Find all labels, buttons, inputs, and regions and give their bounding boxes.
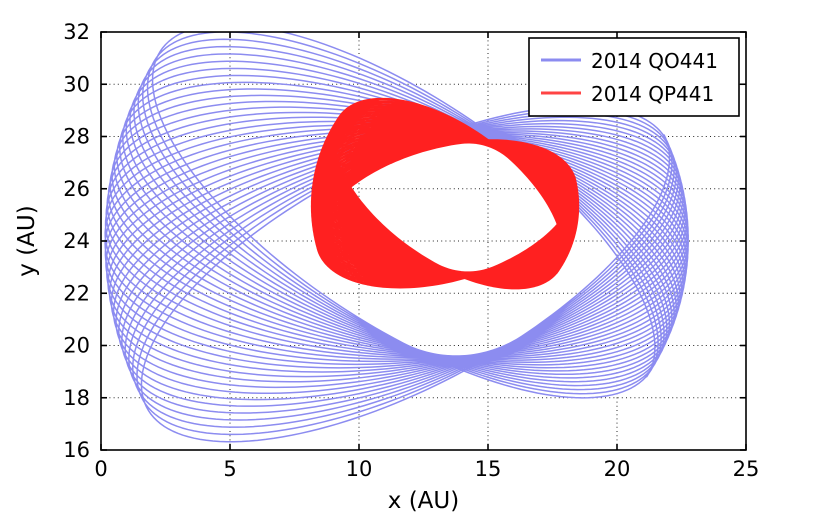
y-tick-label: 26 — [63, 177, 90, 201]
legend-label-2: 2014 QP441 — [591, 82, 714, 106]
y-tick-label: 16 — [63, 438, 90, 462]
orbit-plot: 0510152025161820222426283032 x (AU)y (AU… — [0, 0, 830, 515]
y-tick-label: 30 — [63, 72, 90, 96]
orbit-trace-2014-qp441 — [312, 99, 578, 288]
legend-label-1: 2014 QO441 — [591, 49, 718, 73]
y-tick-label: 20 — [63, 334, 90, 358]
figure-canvas: 0510152025161820222426283032 x (AU)y (AU… — [0, 0, 830, 515]
x-tick-label: 15 — [475, 457, 502, 481]
x-tick-label: 10 — [346, 457, 373, 481]
x-tick-label: 5 — [223, 457, 236, 481]
y-axis-label: y (AU) — [14, 205, 40, 276]
y-tick-label: 32 — [63, 20, 90, 44]
y-tick-label: 24 — [63, 229, 90, 253]
x-tick-label: 0 — [94, 457, 107, 481]
plot-legend[interactable]: 2014 QO4412014 QP441 — [529, 38, 739, 116]
y-tick-label: 28 — [63, 125, 90, 149]
x-tick-label: 20 — [604, 457, 631, 481]
x-axis-label: x (AU) — [388, 488, 459, 514]
y-tick-label: 18 — [63, 386, 90, 410]
x-tick-label: 25 — [733, 457, 760, 481]
y-tick-label: 22 — [63, 281, 90, 305]
